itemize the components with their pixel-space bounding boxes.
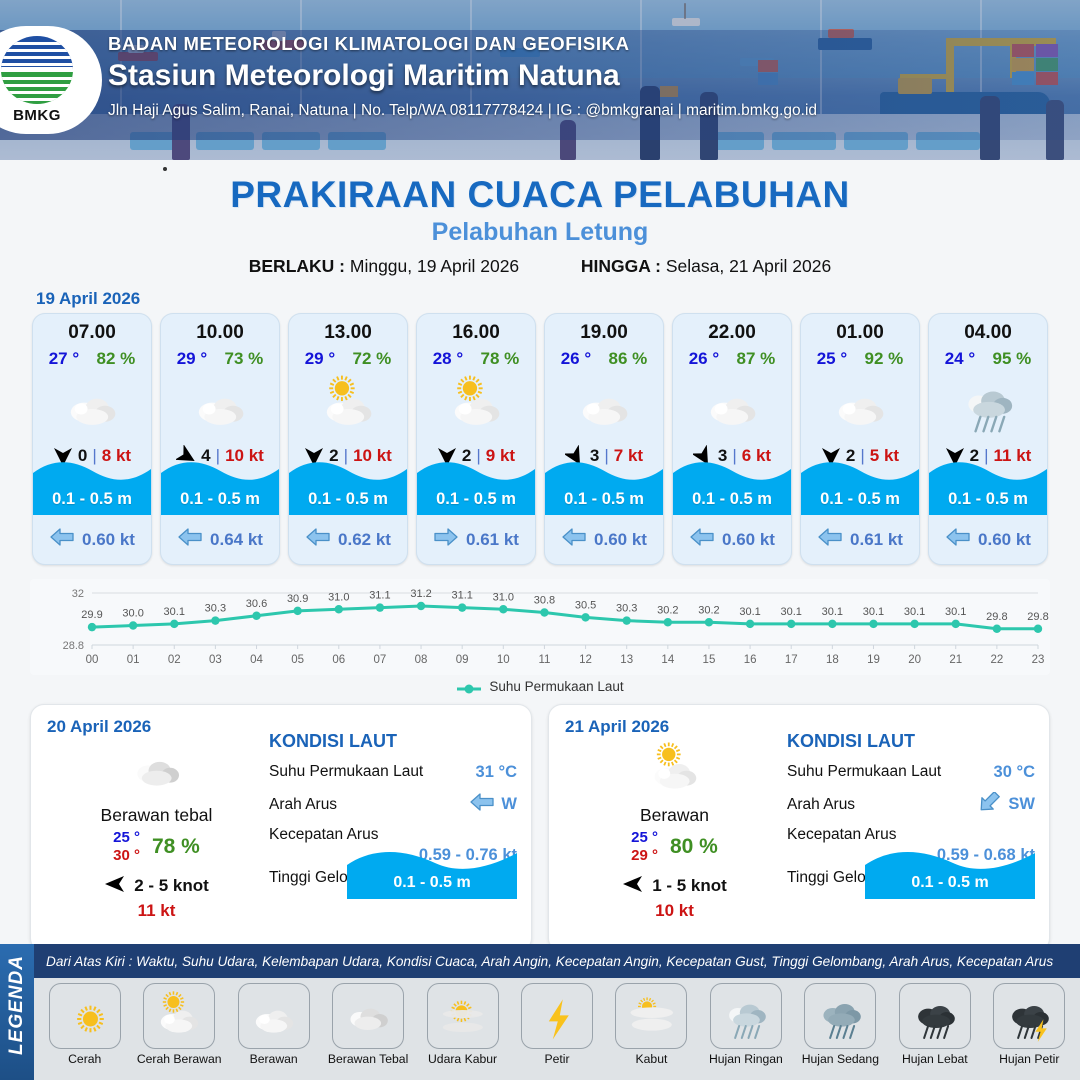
current-direction-arrow-icon xyxy=(976,792,1002,817)
card-humidity: 72 % xyxy=(353,349,392,369)
panel-humidity: 80 % xyxy=(670,835,718,859)
wave-height-value: 0.1 - 0.5 m xyxy=(545,490,663,509)
legend-icon-cerah xyxy=(49,983,121,1049)
svg-text:30.1: 30.1 xyxy=(739,606,760,618)
wave-graphic: 0.1 - 0.5 m xyxy=(289,457,407,515)
svg-text:11: 11 xyxy=(538,654,550,666)
port-name: Pelabuhan Letung xyxy=(0,218,1080,247)
svg-text:02: 02 xyxy=(168,654,181,666)
current-speed-value: 0.60 kt xyxy=(82,530,135,550)
card-time: 07.00 xyxy=(33,322,151,344)
legend-icon-list: Cerah Cerah Berawan Berawan Berawan Teba… xyxy=(34,978,1080,1080)
wave-graphic: 0.1 - 0.5 m xyxy=(417,457,535,515)
wave-height-value: 0.1 - 0.5 m xyxy=(33,490,151,509)
current-speed-value: 0.60 kt xyxy=(722,530,775,550)
hourly-card[interactable]: 10.00 29 ° 73 % 4 | 10 kt 0.1 - 0.5 m 0.… xyxy=(160,313,280,565)
validity-range: BERLAKU : Minggu, 19 April 2026 HINGGA :… xyxy=(0,256,1080,277)
card-time: 16.00 xyxy=(417,322,535,344)
weather-icon-berawan-tebal xyxy=(49,741,264,799)
page-title: PRAKIRAAN CUACA PELABUHAN xyxy=(0,174,1080,216)
svg-text:20: 20 xyxy=(908,654,921,666)
sst-label: Suhu Permukaan Laut xyxy=(787,763,941,781)
current-direction-arrow-icon xyxy=(469,792,495,817)
station-name: Stasiun Meteorologi Maritim Natuna xyxy=(108,59,817,93)
weather-icon-berawan xyxy=(673,373,791,437)
panel-wave-graphic: 0.1 - 0.5 m xyxy=(865,843,1035,899)
sea-condition-title: KONDISI LAUT xyxy=(269,731,517,752)
card-humidity: 78 % xyxy=(481,349,520,369)
card-temperature: 25 ° xyxy=(817,349,847,369)
legend-item: Hujan Lebat xyxy=(890,983,979,1066)
legend-icon-berawan xyxy=(238,983,310,1049)
card-humidity: 95 % xyxy=(993,349,1032,369)
svg-text:30.0: 30.0 xyxy=(122,608,143,620)
weather-icon-cerah-berawan xyxy=(289,373,407,437)
page-header: BMKG BADAN METEOROLOGI KLIMATOLOGI DAN G… xyxy=(0,0,1080,160)
hingga-label: HINGGA : xyxy=(581,256,661,276)
legend-icon-berawan-tebal xyxy=(332,983,404,1049)
card-time: 10.00 xyxy=(161,322,279,344)
card-temperature: 26 ° xyxy=(689,349,719,369)
contact-info: Jln Haji Agus Salim, Ranai, Natuna | No.… xyxy=(108,102,817,120)
svg-text:21: 21 xyxy=(949,654,962,666)
hourly-card[interactable]: 13.00 29 ° 72 % 2 | 10 kt 0.1 - 0.5 m 0.… xyxy=(288,313,408,565)
svg-text:18: 18 xyxy=(826,654,839,666)
svg-text:31.0: 31.0 xyxy=(493,591,514,603)
legend-icon-hujan-ringan xyxy=(710,983,782,1049)
daily-forecast-panels: 20 April 2026 Berawan tebal 25 ° 30 ° 78… xyxy=(0,694,1080,952)
legend-icon-kabut xyxy=(615,983,687,1049)
svg-text:19: 19 xyxy=(867,654,880,666)
svg-text:30.1: 30.1 xyxy=(781,606,802,618)
panel-condition: Berawan tebal xyxy=(49,805,264,826)
legend-item-label: Hujan Lebat xyxy=(890,1052,979,1066)
sea-condition-title: KONDISI LAUT xyxy=(787,731,1035,752)
svg-text:29.8: 29.8 xyxy=(986,611,1007,623)
svg-text:01: 01 xyxy=(127,654,140,666)
card-temperature: 28 ° xyxy=(433,349,463,369)
current-direction-arrow-icon xyxy=(177,527,203,552)
title-section: PRAKIRAAN CUACA PELABUHAN Pelabuhan Letu… xyxy=(0,160,1080,277)
legend-icon-cerah-berawan xyxy=(143,983,215,1049)
panel-temp-min: 25 ° xyxy=(113,829,140,846)
svg-text:30.9: 30.9 xyxy=(287,593,308,605)
svg-text:12: 12 xyxy=(579,654,592,666)
weather-icon-cerah-berawan xyxy=(567,741,782,799)
card-temperature: 26 ° xyxy=(561,349,591,369)
svg-text:30.1: 30.1 xyxy=(945,606,966,618)
sst-value: 31 °C xyxy=(476,763,517,782)
panel-wind-arrow-icon xyxy=(622,875,644,898)
legend-item-label: Cerah Berawan xyxy=(134,1052,223,1066)
svg-text:16: 16 xyxy=(744,654,757,666)
current-speed-value: 0.61 kt xyxy=(850,530,903,550)
current-direction-label: Arah Arus xyxy=(269,796,337,814)
legend-item-label: Kabut xyxy=(607,1052,696,1066)
legend-item: Berawan xyxy=(229,983,318,1066)
current-speed-value: 0.62 kt xyxy=(338,530,391,550)
current-direction-arrow-icon xyxy=(305,527,331,552)
legend-item: Hujan Sedang xyxy=(796,983,885,1066)
wave-height-value: 0.1 - 0.5 m xyxy=(161,490,279,509)
weather-icon-berawan xyxy=(545,373,663,437)
current-speed-value: 0.61 kt xyxy=(466,530,519,550)
legend-item-label: Hujan Sedang xyxy=(796,1052,885,1066)
card-humidity: 92 % xyxy=(865,349,904,369)
card-humidity: 82 % xyxy=(97,349,136,369)
legend-section: LEGENDA Dari Atas Kiri : Waktu, Suhu Uda… xyxy=(0,944,1080,1080)
chart-legend-label: Suhu Permukaan Laut xyxy=(489,679,623,694)
wave-graphic: 0.1 - 0.5 m xyxy=(929,457,1047,515)
weather-icon-berawan xyxy=(161,373,279,437)
wave-height-value: 0.1 - 0.5 m xyxy=(673,490,791,509)
svg-text:32: 32 xyxy=(72,588,84,600)
panel-temp-max: 30 ° xyxy=(113,847,140,864)
svg-text:23: 23 xyxy=(1032,654,1045,666)
svg-text:03: 03 xyxy=(209,654,222,666)
wave-graphic: 0.1 - 0.5 m xyxy=(545,457,663,515)
svg-text:30.1: 30.1 xyxy=(863,606,884,618)
weather-icon-cerah-berawan xyxy=(417,373,535,437)
svg-text:00: 00 xyxy=(86,654,99,666)
panel-wind-arrow-icon xyxy=(104,875,126,898)
current-speed-value: 0.60 kt xyxy=(978,530,1031,550)
svg-text:08: 08 xyxy=(415,654,428,666)
legend-item: Berawan Tebal xyxy=(323,983,412,1066)
svg-text:30.5: 30.5 xyxy=(575,599,596,611)
wave-graphic: 0.1 - 0.5 m xyxy=(801,457,919,515)
bmkg-logo-circle xyxy=(1,36,73,104)
wave-height-value: 0.1 - 0.5 m xyxy=(417,490,535,509)
svg-text:31.2: 31.2 xyxy=(410,588,431,600)
svg-text:14: 14 xyxy=(661,654,674,666)
card-time: 22.00 xyxy=(673,322,791,344)
legend-icon-hujan-sedang xyxy=(804,983,876,1049)
svg-text:09: 09 xyxy=(456,654,469,666)
legend-item: Hujan Petir xyxy=(985,983,1074,1066)
card-time: 19.00 xyxy=(545,322,663,344)
daily-panel[interactable]: 21 April 2026 Berawan 25 ° 29 ° 80 % 1 -… xyxy=(548,704,1050,952)
panel-temp-min: 25 ° xyxy=(631,829,658,846)
card-temperature: 29 ° xyxy=(177,349,207,369)
legend-note-bar: Dari Atas Kiri : Waktu, Suhu Udara, Kele… xyxy=(34,944,1080,978)
panel-humidity: 78 % xyxy=(152,835,200,859)
panel-wind-speed: 2 - 5 knot xyxy=(134,876,209,896)
berlaku-label: BERLAKU : xyxy=(249,256,345,276)
svg-text:07: 07 xyxy=(374,654,387,666)
stray-dot-marker xyxy=(163,167,167,171)
svg-text:29.9: 29.9 xyxy=(81,609,102,621)
current-direction-value: W xyxy=(501,795,517,814)
card-time: 04.00 xyxy=(929,322,1047,344)
card-time: 01.00 xyxy=(801,322,919,344)
legend-icon-udara-kabur xyxy=(427,983,499,1049)
legend-item-label: Udara Kabur xyxy=(418,1052,507,1066)
hourly-card[interactable]: 16.00 28 ° 78 % 2 | 9 kt 0.1 - 0.5 m 0.6… xyxy=(416,313,536,565)
legend-item: Cerah xyxy=(40,983,129,1066)
legend-icon-petir xyxy=(521,983,593,1049)
hourly-day-label: 19 April 2026 xyxy=(36,289,1080,309)
current-direction-arrow-icon xyxy=(817,527,843,552)
current-speed-label: Kecepatan Arus xyxy=(787,826,1035,844)
svg-text:22: 22 xyxy=(990,654,1003,666)
current-speed-value: 0.64 kt xyxy=(210,530,263,550)
agency-name: BADAN METEOROLOGI KLIMATOLOGI DAN GEOFIS… xyxy=(108,33,817,55)
current-speed-value: 0.60 kt xyxy=(594,530,647,550)
legend-item: Udara Kabur xyxy=(418,983,507,1066)
svg-text:29.8: 29.8 xyxy=(1027,611,1048,623)
berlaku-value: Minggu, 19 April 2026 xyxy=(350,256,519,276)
svg-text:30.3: 30.3 xyxy=(616,603,637,615)
panel-temp-max: 29 ° xyxy=(631,847,658,864)
svg-text:31.1: 31.1 xyxy=(451,590,472,602)
svg-text:30.1: 30.1 xyxy=(164,606,185,618)
panel-condition: Berawan xyxy=(567,805,782,826)
sst-chart: 3228.829.90030.00130.10230.30330.60430.9… xyxy=(30,579,1050,675)
legend-item-label: Hujan Ringan xyxy=(701,1052,790,1066)
current-direction-arrow-icon xyxy=(945,527,971,552)
hourly-card[interactable]: 07.00 27 ° 82 % 0 | 8 kt 0.1 - 0.5 m 0.6… xyxy=(32,313,152,565)
card-temperature: 29 ° xyxy=(305,349,335,369)
svg-text:30.3: 30.3 xyxy=(205,603,226,615)
panel-wave-graphic: 0.1 - 0.5 m xyxy=(347,843,517,899)
card-temperature: 24 ° xyxy=(945,349,975,369)
panel-wind-speed: 1 - 5 knot xyxy=(652,876,727,896)
current-direction-arrow-icon xyxy=(561,527,587,552)
legend-item: Kabut xyxy=(607,983,696,1066)
svg-text:31.1: 31.1 xyxy=(369,590,390,602)
chart-legend: Suhu Permukaan Laut xyxy=(0,679,1080,694)
wave-height-value: 0.1 - 0.5 m xyxy=(801,490,919,509)
wave-graphic: 0.1 - 0.5 m xyxy=(673,457,791,515)
legend-item: Hujan Ringan xyxy=(701,983,790,1066)
hingga-value: Selasa, 21 April 2026 xyxy=(666,256,831,276)
svg-text:30.2: 30.2 xyxy=(657,604,678,616)
legend-item-label: Berawan xyxy=(229,1052,318,1066)
wave-height-value: 0.1 - 0.5 m xyxy=(929,490,1047,509)
card-humidity: 73 % xyxy=(225,349,264,369)
panel-gust: 10 kt xyxy=(567,901,782,921)
svg-text:13: 13 xyxy=(620,654,633,666)
card-temperature: 27 ° xyxy=(49,349,79,369)
daily-panel[interactable]: 20 April 2026 Berawan tebal 25 ° 30 ° 78… xyxy=(30,704,532,952)
legend-item: Petir xyxy=(512,983,601,1066)
svg-text:15: 15 xyxy=(703,654,716,666)
legend-side-label: LEGENDA xyxy=(6,953,28,1057)
hourly-card[interactable]: 04.00 24 ° 95 % 2 | 11 kt 0.1 - 0.5 m 0.… xyxy=(928,313,1048,565)
panel-gust: 11 kt xyxy=(49,901,264,921)
hourly-forecast-cards: 07.00 27 ° 82 % 0 | 8 kt 0.1 - 0.5 m 0.6… xyxy=(0,313,1080,565)
legend-icon-hujan-lebat xyxy=(899,983,971,1049)
current-direction-arrow-icon xyxy=(49,527,75,552)
hourly-card[interactable]: 22.00 26 ° 87 % 3 | 6 kt 0.1 - 0.5 m 0.6… xyxy=(672,313,792,565)
weather-icon-berawan xyxy=(33,373,151,437)
svg-text:30.1: 30.1 xyxy=(822,606,843,618)
wave-graphic: 0.1 - 0.5 m xyxy=(161,457,279,515)
card-humidity: 86 % xyxy=(609,349,648,369)
legend-item-label: Petir xyxy=(512,1052,601,1066)
hourly-card[interactable]: 19.00 26 ° 86 % 3 | 7 kt 0.1 - 0.5 m 0.6… xyxy=(544,313,664,565)
hourly-card[interactable]: 01.00 25 ° 92 % 2 | 5 kt 0.1 - 0.5 m 0.6… xyxy=(800,313,920,565)
current-direction-value: SW xyxy=(1008,795,1035,814)
current-direction-arrow-icon xyxy=(689,527,715,552)
svg-text:04: 04 xyxy=(250,654,263,666)
weather-icon-berawan xyxy=(801,373,919,437)
svg-text:30.8: 30.8 xyxy=(534,595,555,607)
legend-icon-hujan-petir xyxy=(993,983,1065,1049)
chart-legend-marker xyxy=(456,682,482,692)
legend-note: Dari Atas Kiri : Waktu, Suhu Udara, Kele… xyxy=(34,954,1053,969)
svg-text:30.2: 30.2 xyxy=(698,604,719,616)
bmkg-logo-text: BMKG xyxy=(0,107,79,124)
wave-height-value: 0.1 - 0.5 m xyxy=(289,490,407,509)
svg-text:06: 06 xyxy=(332,654,345,666)
sst-label: Suhu Permukaan Laut xyxy=(269,763,423,781)
svg-text:17: 17 xyxy=(785,654,798,666)
weather-icon-hujan-ringan xyxy=(929,373,1047,437)
current-speed-label: Kecepatan Arus xyxy=(269,826,517,844)
svg-text:31.0: 31.0 xyxy=(328,591,349,603)
legend-item-label: Hujan Petir xyxy=(985,1052,1074,1066)
sst-value: 30 °C xyxy=(994,763,1035,782)
legend-item-label: Cerah xyxy=(40,1052,129,1066)
current-direction-label: Arah Arus xyxy=(787,796,855,814)
panel-wave-value: 0.1 - 0.5 m xyxy=(865,874,1035,892)
svg-text:05: 05 xyxy=(291,654,304,666)
panel-wave-value: 0.1 - 0.5 m xyxy=(347,874,517,892)
svg-text:30.1: 30.1 xyxy=(904,606,925,618)
current-direction-arrow-icon xyxy=(433,527,459,552)
legend-item-label: Berawan Tebal xyxy=(323,1052,412,1066)
legend-item: Cerah Berawan xyxy=(134,983,223,1066)
svg-text:30.6: 30.6 xyxy=(246,598,267,610)
card-time: 13.00 xyxy=(289,322,407,344)
svg-text:10: 10 xyxy=(497,654,510,666)
wave-graphic: 0.1 - 0.5 m xyxy=(33,457,151,515)
legend-side-bar: LEGENDA xyxy=(0,944,34,1080)
card-humidity: 87 % xyxy=(737,349,776,369)
svg-text:28.8: 28.8 xyxy=(63,640,84,652)
